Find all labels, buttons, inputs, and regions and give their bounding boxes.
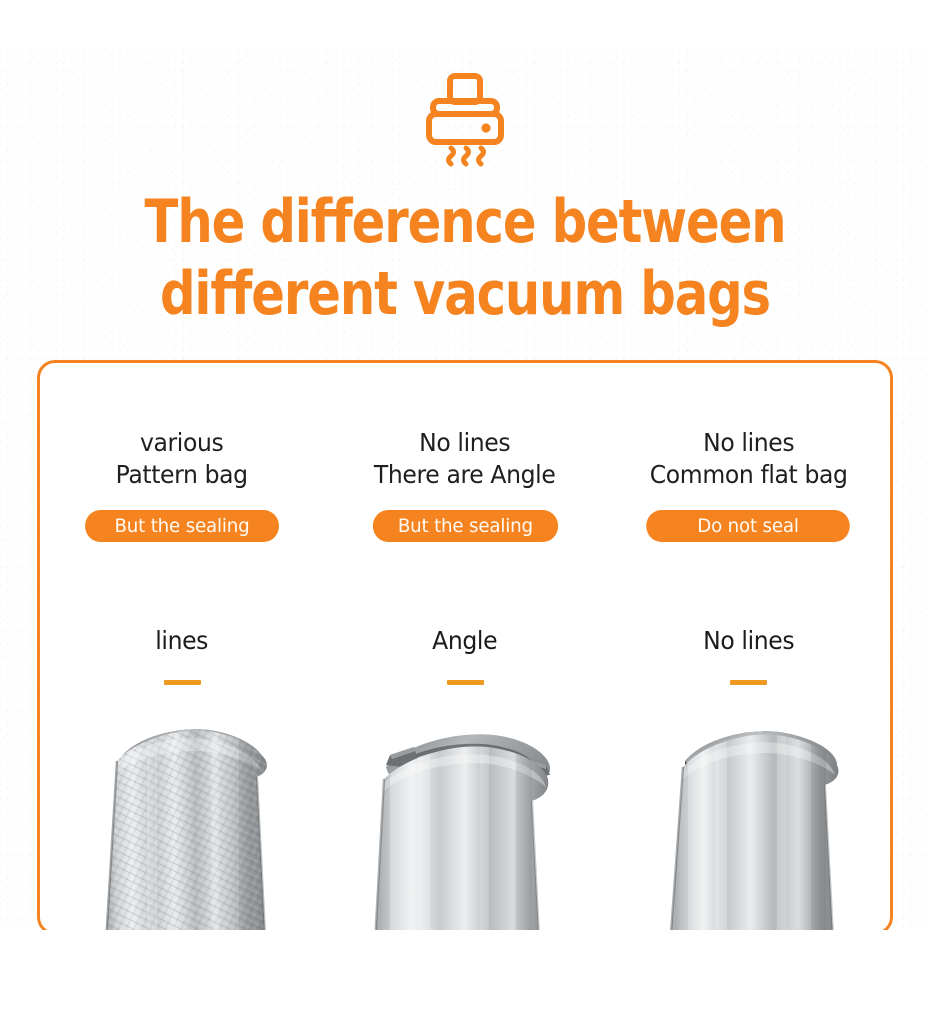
bag-image-stage [40, 703, 323, 932]
badge-wrap: Do not seal [607, 510, 890, 542]
status-badge[interactable]: But the sealing [372, 510, 557, 542]
comparison-column-pattern-bag: various Pattern bag But the sealing line… [40, 363, 323, 932]
badge-wrap: But the sealing [323, 510, 606, 542]
status-badge[interactable]: But the sealing [85, 510, 279, 542]
comparison-columns: various Pattern bag But the sealing line… [40, 363, 890, 932]
gusseted-bag-icon [340, 703, 590, 932]
comparison-column-flat-bag: No lines Common flat bag Do not seal No … [607, 363, 890, 932]
bag-image-stage [607, 703, 890, 932]
indicator-dot-icon [481, 123, 490, 132]
vacuum-sealer-icon [417, 68, 513, 168]
product-info-page: The difference between different vacuum … [0, 0, 930, 1024]
underline-accent [730, 680, 767, 685]
feature-label: Angle [332, 626, 598, 655]
underline-accent [447, 680, 484, 685]
status-badge[interactable]: Do not seal [647, 510, 851, 542]
feature-label: No lines [615, 626, 881, 655]
flat-bag-icon [631, 703, 881, 932]
comparison-column-angle-bag: No lines There are Angle But the sealing… [323, 363, 606, 932]
page-title: The difference between different vacuum … [37, 186, 893, 330]
bag-image-stage [323, 703, 606, 932]
badge-wrap: But the sealing [40, 510, 323, 542]
embossed-bag-icon [61, 703, 311, 932]
comparison-card: various Pattern bag But the sealing line… [37, 360, 893, 935]
column-heading: various Pattern bag [48, 427, 314, 491]
column-heading: No lines Common flat bag [615, 427, 881, 491]
footer-spacer [0, 930, 930, 1024]
underline-accent [164, 680, 201, 685]
column-heading: No lines There are Angle [332, 427, 598, 491]
feature-label: lines [48, 626, 314, 655]
